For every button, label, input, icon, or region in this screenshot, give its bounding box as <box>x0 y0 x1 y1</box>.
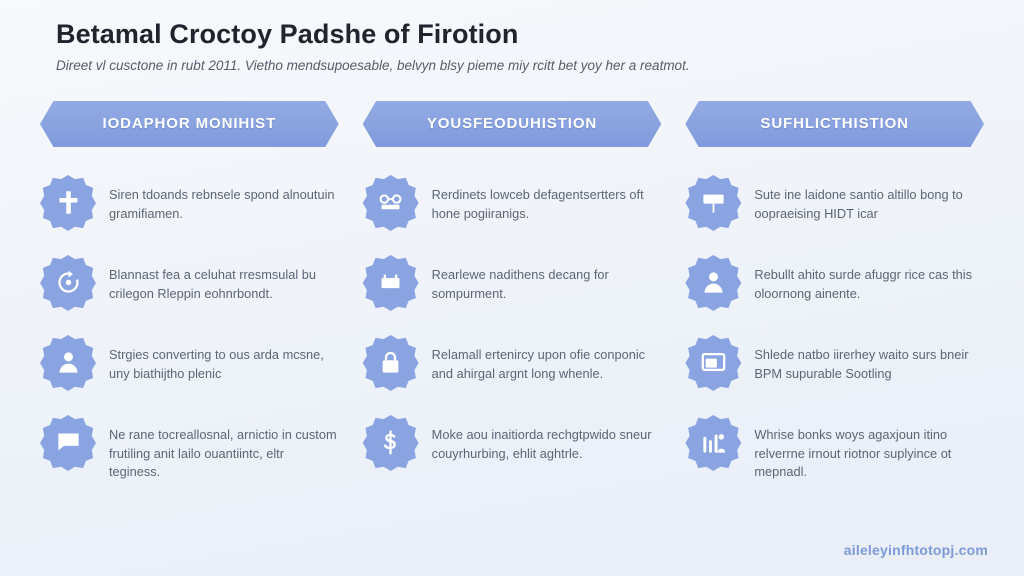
list-item-text-wrap: Ne rane tocreallosnal, arnictio in custo… <box>109 421 339 482</box>
list-item-text-wrap: Blannast fea a celuhat rresmsulal bu cri… <box>109 261 339 303</box>
badge <box>40 255 96 311</box>
lock-icon <box>377 349 404 376</box>
column-2-banner: YOUSFEODUHISTION <box>363 101 662 147</box>
page-subtitle: Direet vl cusctone in rubt 2011. Vietho … <box>56 57 968 75</box>
badge <box>40 335 96 391</box>
list-item-text: Rebullt ahito surde afuggr rice cas this… <box>754 266 984 303</box>
badge <box>685 415 741 471</box>
footer-watermark: aileleyinfhtotopj.com <box>844 542 988 558</box>
list-item: Shlede natbo iirerhey waito surs bneir B… <box>685 341 984 421</box>
list-item-text-wrap: Rerdinets lowceb defagentsertters oft ho… <box>432 181 662 223</box>
list-item-text-wrap: Moke aou inaitiorda rechgtpwido sneur co… <box>432 421 662 463</box>
list-item-text: Rearlewe nadithens decang for sompurment… <box>432 266 662 303</box>
list-item-text-wrap: Relamall ertenircy upon ofie conponic an… <box>432 341 662 383</box>
list-item-text-wrap: Whrise bonks woys agaxjoun itino relverr… <box>754 421 984 482</box>
list-item: Blannast fea a celuhat rresmsulal bu cri… <box>40 261 339 341</box>
list-item: Rebullt ahito surde afuggr rice cas this… <box>685 261 984 341</box>
list-item-text: Blannast fea a celuhat rresmsulal bu cri… <box>109 266 339 303</box>
list-item-text-wrap: Shlede natbo iirerhey waito surs bneir B… <box>754 341 984 383</box>
list-item: Rerdinets lowceb defagentsertters oft ho… <box>363 181 662 261</box>
list-item: Rearlewe nadithens decang for sompurment… <box>363 261 662 341</box>
badge <box>363 335 419 391</box>
badge <box>363 175 419 231</box>
glasses-icon <box>377 189 404 216</box>
column-1-banner: IODAPHOR MONIHIST <box>40 101 339 147</box>
list-item: Ne rane tocreallosnal, arnictio in custo… <box>40 421 339 501</box>
list-item-text-wrap: Siren tdoands rebnsele spond alnoutuin g… <box>109 181 339 223</box>
signpost-icon <box>700 189 727 216</box>
list-item: Relamall ertenircy upon ofie conponic an… <box>363 341 662 421</box>
list-item-text-wrap: Sute ine laidone santio altillo bong to … <box>754 181 984 223</box>
list-item-text: Siren tdoands rebnsele spond alnoutuin g… <box>109 186 339 223</box>
person-icon <box>55 349 82 376</box>
header: Betamal Croctoy Padshe of Firotion Diree… <box>0 0 1024 75</box>
list-item-text: Strgies converting to ous arda mcsne, un… <box>109 346 339 383</box>
list-item-text: Rerdinets lowceb defagentsertters oft ho… <box>432 186 662 223</box>
tray-icon <box>377 269 404 296</box>
badge <box>685 335 741 391</box>
badge <box>363 415 419 471</box>
list-item-text-wrap: Rebullt ahito surde afuggr rice cas this… <box>754 261 984 303</box>
list-item-text: Shlede natbo iirerhey waito surs bneir B… <box>754 346 984 383</box>
cross-icon <box>55 189 82 216</box>
badge <box>685 175 741 231</box>
columns-container: IODAPHOR MONIHIST Siren tdoands rebnsele… <box>0 101 1024 501</box>
badge <box>363 255 419 311</box>
person-icon <box>700 269 727 296</box>
bar-chart-people-icon <box>700 429 727 456</box>
chat-icon <box>55 429 82 456</box>
column-1: IODAPHOR MONIHIST Siren tdoands rebnsele… <box>40 101 339 501</box>
badge <box>40 175 96 231</box>
dollar-icon <box>377 429 404 456</box>
list-item-text: Whrise bonks woys agaxjoun itino relverr… <box>754 426 984 482</box>
list-item-text: Moke aou inaitiorda rechgtpwido sneur co… <box>432 426 662 463</box>
monitor-icon <box>700 349 727 376</box>
list-item: Moke aou inaitiorda rechgtpwido sneur co… <box>363 421 662 501</box>
column-3: SUFHLICTHISTION Sute ine laidone santio … <box>685 101 984 501</box>
list-item: Whrise bonks woys agaxjoun itino relverr… <box>685 421 984 501</box>
list-item: Strgies converting to ous arda mcsne, un… <box>40 341 339 421</box>
infographic-page: Betamal Croctoy Padshe of Firotion Diree… <box>0 0 1024 576</box>
list-item-text: Ne rane tocreallosnal, arnictio in custo… <box>109 426 339 482</box>
column-3-banner: SUFHLICTHISTION <box>685 101 984 147</box>
list-item: Siren tdoands rebnsele spond alnoutuin g… <box>40 181 339 261</box>
page-title: Betamal Croctoy Padshe of Firotion <box>56 18 968 50</box>
column-2: YOUSFEODUHISTION Rerdinets lowceb defage… <box>363 101 662 501</box>
list-item-text: Sute ine laidone santio altillo bong to … <box>754 186 984 223</box>
column-2-banner-label: YOUSFEODUHISTION <box>427 115 597 132</box>
list-item-text-wrap: Rearlewe nadithens decang for sompurment… <box>432 261 662 303</box>
badge <box>685 255 741 311</box>
badge <box>40 415 96 471</box>
list-item-text-wrap: Strgies converting to ous arda mcsne, un… <box>109 341 339 383</box>
column-3-banner-label: SUFHLICTHISTION <box>760 115 909 132</box>
column-1-banner-label: IODAPHOR MONIHIST <box>103 115 277 132</box>
list-item-text: Relamall ertenircy upon ofie conponic an… <box>432 346 662 383</box>
list-item: Sute ine laidone santio altillo bong to … <box>685 181 984 261</box>
recycle-icon <box>55 269 82 296</box>
